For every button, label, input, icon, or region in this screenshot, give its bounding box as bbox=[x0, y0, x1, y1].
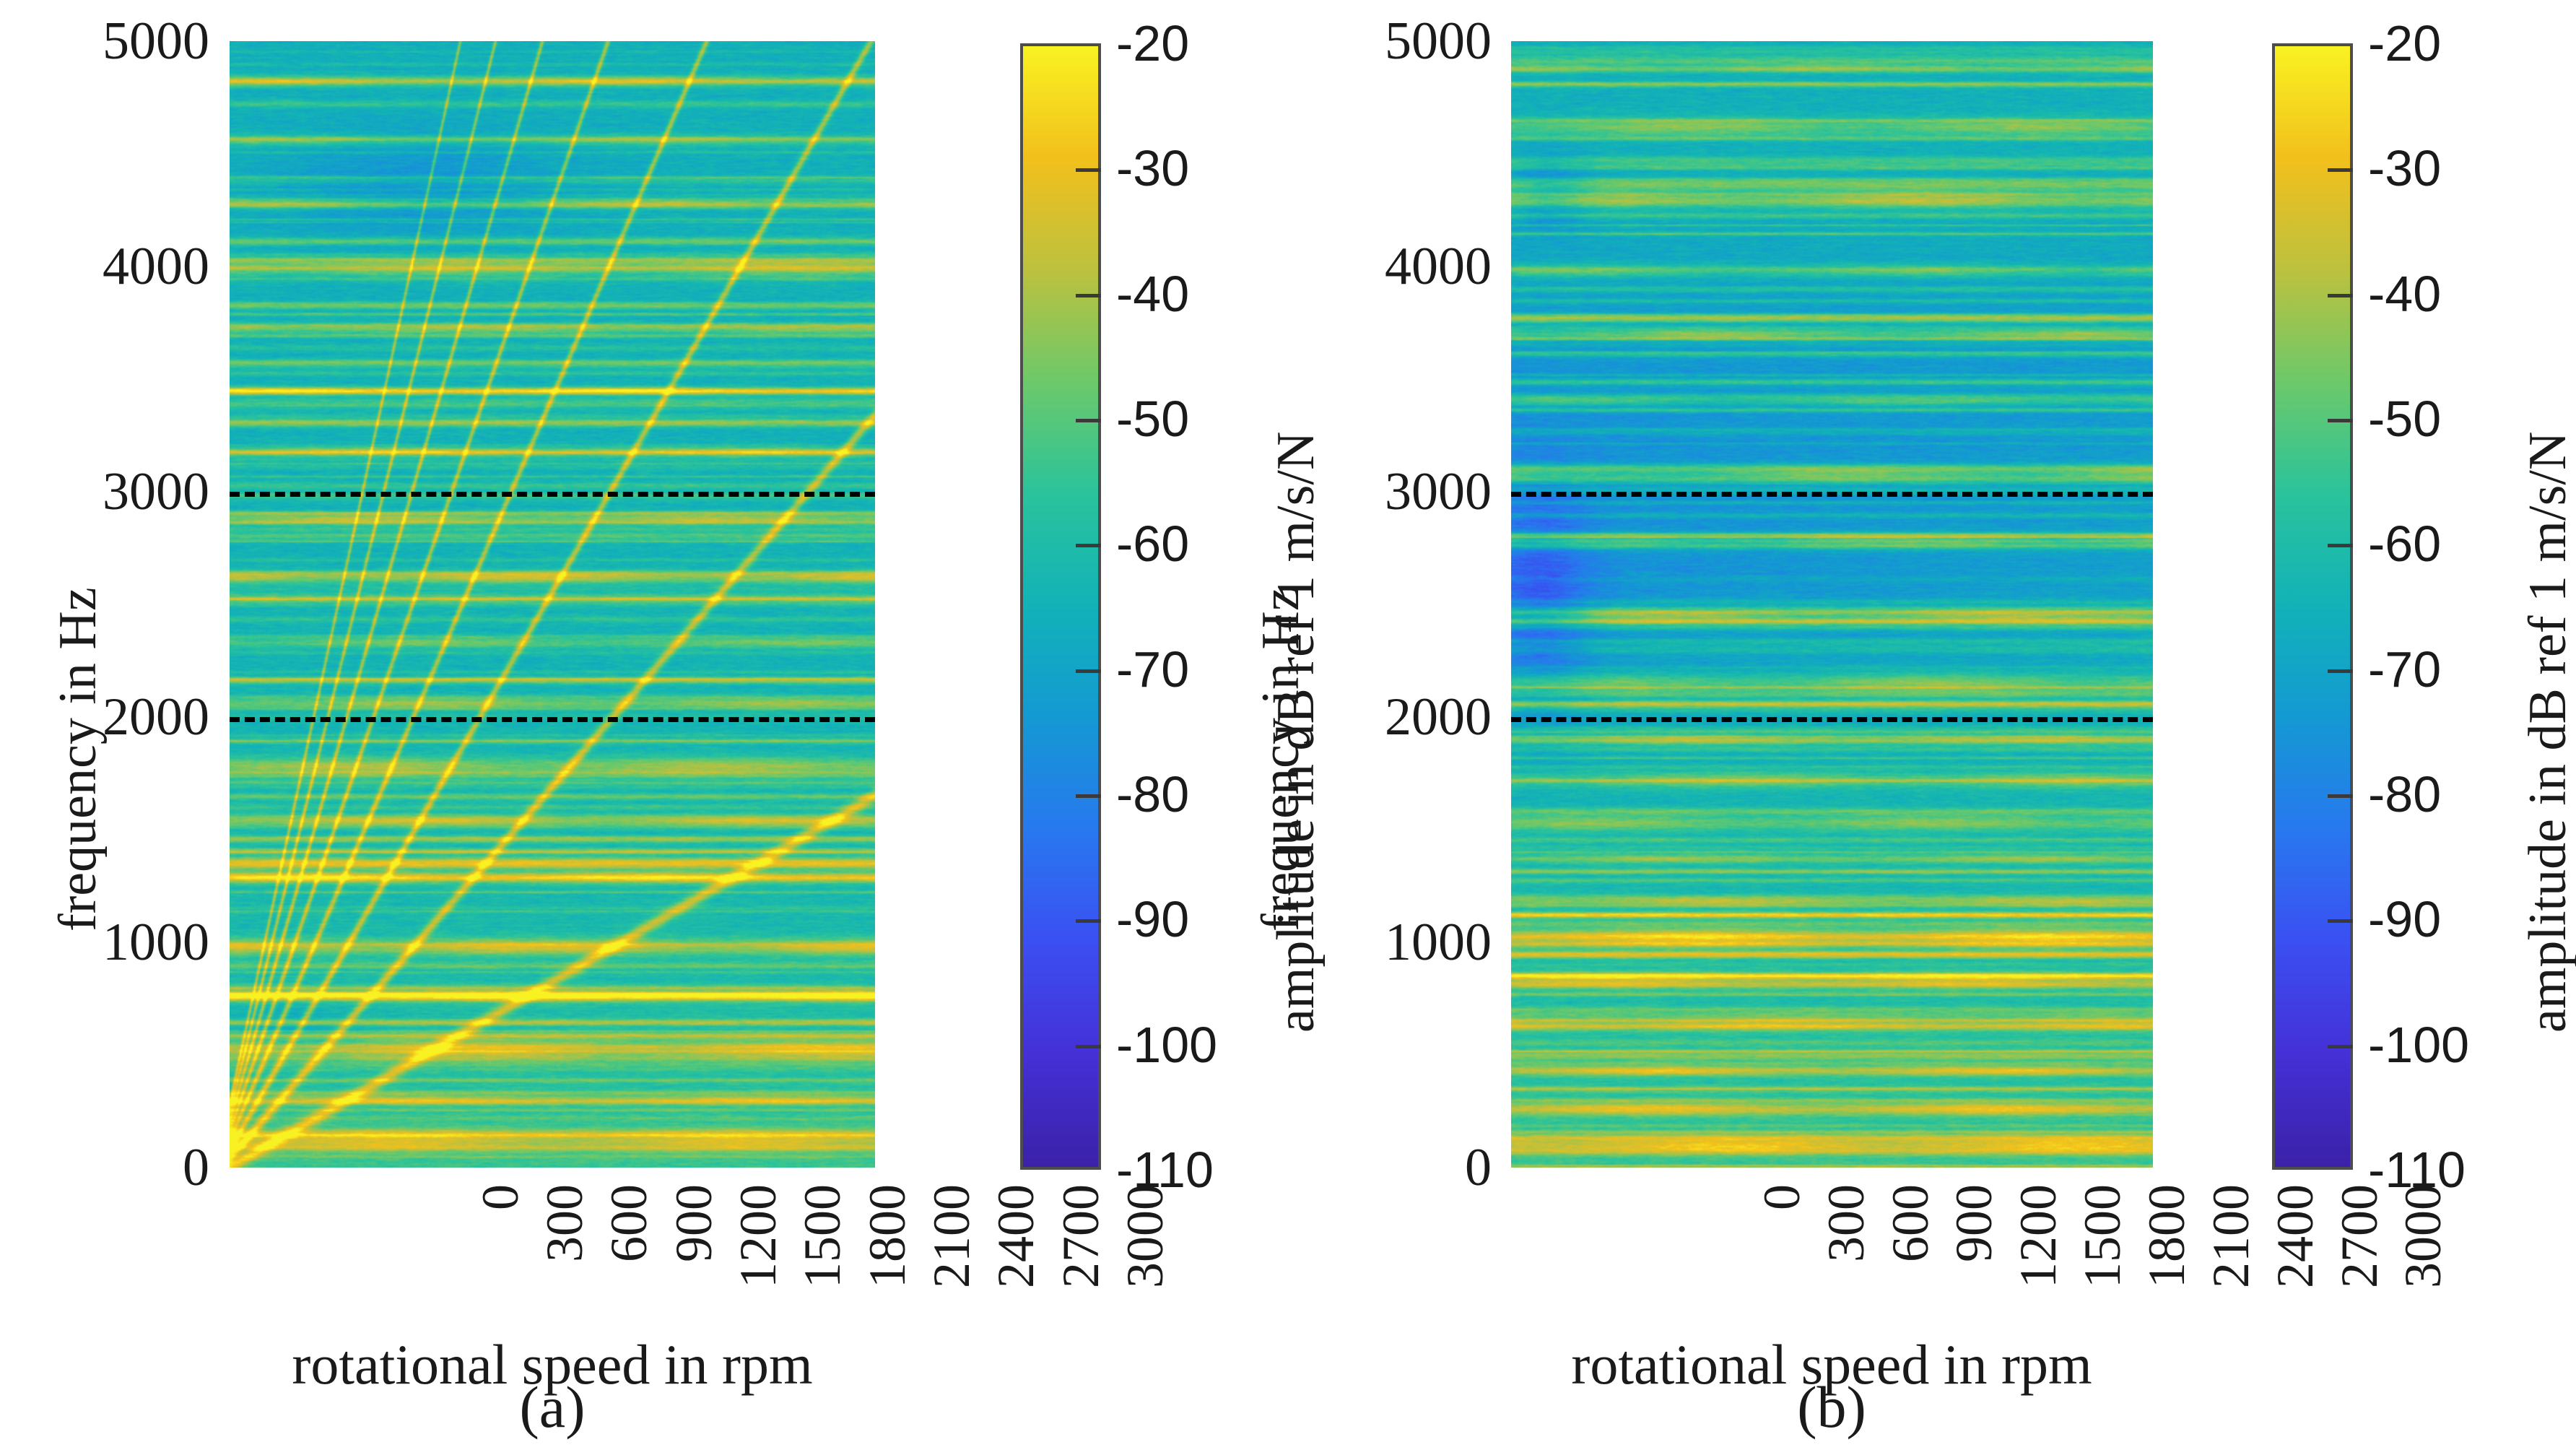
ytick-a-0: 0 bbox=[14, 1141, 209, 1194]
panel-b: 5000 4000 3000 2000 1000 0 frequency in … bbox=[1288, 0, 2576, 1455]
ytick-b-2000: 2000 bbox=[1295, 690, 1492, 744]
colorbar-b-label-90: -90 bbox=[2368, 894, 2441, 944]
subplot-caption-a: (a) bbox=[519, 1373, 585, 1441]
colorbar-a-label-80: -80 bbox=[1116, 769, 1189, 820]
colorbar-b-label-110: -110 bbox=[2368, 1145, 2466, 1195]
xtick-b-2400: 2400 bbox=[2266, 1184, 2325, 1401]
ytick-b-0: 0 bbox=[1295, 1141, 1492, 1194]
colorbar-a-tick-40 bbox=[1076, 294, 1101, 297]
colorbar-a-label-90: -90 bbox=[1116, 894, 1189, 944]
colorbar-b-label-80: -80 bbox=[2368, 769, 2441, 820]
ytick-b-4000: 4000 bbox=[1295, 240, 1492, 293]
panel-a: 5000 4000 3000 2000 1000 0 frequency in … bbox=[0, 0, 1288, 1455]
xtick-a-2100: 2100 bbox=[922, 1184, 982, 1401]
spectrogram-b bbox=[1511, 41, 2153, 1168]
xtick-b-1800: 1800 bbox=[2137, 1184, 2197, 1401]
ytick-a-2000: 2000 bbox=[14, 690, 209, 744]
colorbar-a bbox=[1020, 43, 1101, 1170]
xtick-b-2700: 2700 bbox=[2330, 1184, 2390, 1401]
colorbar-b-tick-50 bbox=[2328, 419, 2353, 422]
colorbar-b bbox=[2272, 43, 2353, 1170]
xtick-b-3000: 3000 bbox=[2393, 1184, 2453, 1401]
colorbar-b-tick-60 bbox=[2328, 544, 2353, 547]
colorbar-a-label-40: -40 bbox=[1116, 269, 1189, 319]
colorbar-b-tick-40 bbox=[2328, 294, 2353, 297]
colorbar-b-tick-100 bbox=[2328, 1045, 2353, 1048]
colorbar-b-title: amplitude in dB ref 1 m/s/N bbox=[2518, 432, 2576, 1033]
colorbar-b-label-50: -50 bbox=[2368, 394, 2441, 444]
ytick-b-1000: 1000 bbox=[1295, 916, 1492, 969]
y-axis-label-a: frequency in Hz bbox=[48, 587, 109, 931]
colorbar-a-tick-50 bbox=[1076, 419, 1101, 422]
colorbar-b-label-70: -70 bbox=[2368, 644, 2441, 695]
ytick-b-3000: 3000 bbox=[1295, 465, 1492, 518]
colorbar-a-label-50: -50 bbox=[1116, 394, 1189, 444]
colorbar-a-label-100: -100 bbox=[1116, 1020, 1217, 1070]
spectrogram-a bbox=[230, 41, 875, 1168]
colorbar-b-tick-90 bbox=[2328, 919, 2353, 923]
colorbar-b-label-20: -20 bbox=[2368, 18, 2441, 69]
colorbar-a-tick-90 bbox=[1076, 919, 1101, 923]
ytick-a-3000: 3000 bbox=[14, 465, 209, 518]
colorbar-b-label-40: -40 bbox=[2368, 269, 2441, 319]
colorbar-b-label-100: -100 bbox=[2368, 1020, 2469, 1070]
colorbar-a-label-20: -20 bbox=[1116, 18, 1189, 69]
colorbar-a-tick-80 bbox=[1076, 794, 1101, 798]
ytick-b-5000: 5000 bbox=[1295, 14, 1492, 68]
colorbar-b-tick-70 bbox=[2328, 669, 2353, 673]
colorbar-a-tick-100 bbox=[1076, 1045, 1101, 1048]
xtick-a-2700: 2700 bbox=[1051, 1184, 1111, 1401]
colorbar-a-tick-70 bbox=[1076, 669, 1101, 673]
subplot-caption-b: (b) bbox=[1797, 1373, 1866, 1441]
ytick-a-1000: 1000 bbox=[14, 916, 209, 969]
colorbar-a-gradient bbox=[1023, 46, 1098, 1167]
colorbar-a-tick-30 bbox=[1076, 168, 1101, 172]
ytick-a-4000: 4000 bbox=[14, 240, 209, 293]
colorbar-b-tick-80 bbox=[2328, 794, 2353, 798]
colorbar-b-label-30: -30 bbox=[2368, 143, 2441, 194]
ytick-a-5000: 5000 bbox=[14, 14, 209, 68]
xtick-a-3000: 3000 bbox=[1115, 1184, 1175, 1401]
colorbar-a-label-110: -110 bbox=[1116, 1145, 1214, 1195]
spectrogram-a-canvas bbox=[230, 41, 875, 1168]
colorbar-b-gradient bbox=[2275, 46, 2350, 1167]
colorbar-a-label-60: -60 bbox=[1116, 518, 1189, 569]
colorbar-a-label-70: -70 bbox=[1116, 644, 1189, 695]
xtick-b-2100: 2100 bbox=[2201, 1184, 2261, 1401]
colorbar-b-label-60: -60 bbox=[2368, 518, 2441, 569]
colorbar-a-tick-60 bbox=[1076, 544, 1101, 547]
colorbar-b-tick-30 bbox=[2328, 168, 2353, 172]
spectrogram-b-canvas bbox=[1511, 41, 2153, 1168]
xtick-a-2400: 2400 bbox=[986, 1184, 1046, 1401]
xtick-a-1800: 1800 bbox=[858, 1184, 918, 1401]
colorbar-a-label-30: -30 bbox=[1116, 143, 1189, 194]
y-axis-label-b: frequency in Hz bbox=[1250, 587, 1312, 931]
